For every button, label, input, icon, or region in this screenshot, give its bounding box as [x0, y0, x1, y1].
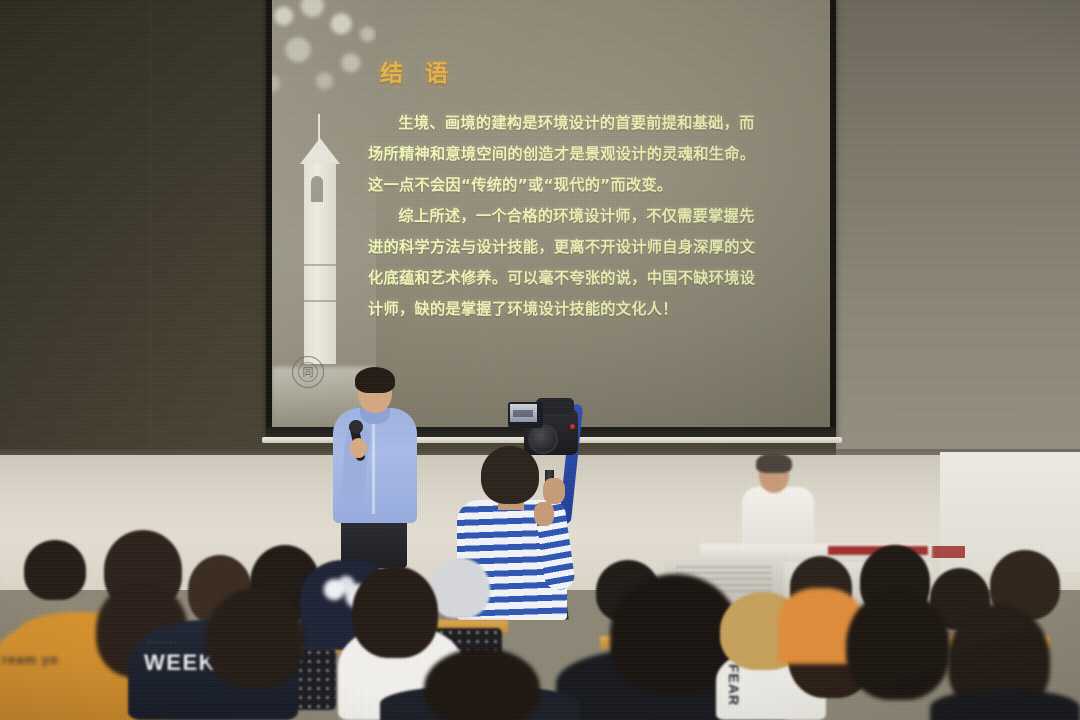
videographer-hand [543, 478, 565, 504]
speaker-hair [355, 367, 395, 393]
videographer-hand [534, 502, 554, 526]
lcd-preview [510, 404, 537, 422]
hoodie-text: ream yo [2, 652, 59, 667]
camera-lcd-screen [508, 402, 543, 428]
tree-foliage [272, 0, 376, 120]
hall-right-wall-panel [836, 0, 1080, 470]
university-seal-icon: 同 [292, 356, 324, 388]
slide-line-4: 综上所述，一个合格的环境设计师，不仅需要掌握先 [368, 201, 808, 232]
slide-line-6: 化底蕴和艺术修养。可以毫不夸张的说，中国不缺环境设 [368, 263, 808, 294]
audience-head [430, 558, 490, 618]
jacket-subtext: ······· [148, 640, 178, 647]
shirt-placket [372, 418, 375, 514]
microphone-head-icon [349, 420, 363, 434]
lecture-hall-photo: 同 结 语 生境、画境的建构是环境设计的首要前提和基础，而 场所精神和意境空间的… [0, 0, 1080, 720]
audience-shoulders [930, 690, 1080, 720]
moderator-hair [756, 453, 792, 473]
projection-screen: 同 结 语 生境、画境的建构是环境设计的首要前提和基础，而 场所精神和意境空间的… [272, 0, 830, 427]
bell-tower [298, 114, 342, 364]
audience-head [206, 588, 304, 688]
shirt-text-fear: FEAR [726, 664, 742, 706]
slide-line-5: 进的科学方法与设计技能，更离不开设计师自身深厚的文 [368, 232, 808, 263]
slide-line-7: 计师，缺的是掌握了环境设计技能的文化人！ [368, 294, 808, 325]
audience-head [424, 648, 540, 720]
tower-ledge [304, 264, 336, 266]
tower-ledge [304, 300, 336, 302]
speaker-hand [350, 438, 367, 458]
slide-title: 结 语 [380, 54, 455, 88]
videographer-head [481, 446, 539, 504]
audience-head [352, 566, 438, 658]
slide-line-3: 这一点不会因“传统的”或“现代的”而改变。 [368, 170, 808, 201]
slide-photo-bell-tower: 同 [272, 0, 376, 427]
tower-arch-window [311, 176, 323, 202]
camera-lens-icon [528, 424, 558, 454]
audience-head [24, 540, 86, 600]
tower-spire [318, 114, 320, 140]
slide-line-1: 生境、画境的建构是环境设计的首要前提和基础，而 [368, 108, 808, 139]
slide-line-2: 场所精神和意境空间的创造才是景观设计的灵魂和生命。 [368, 139, 808, 170]
tower-roof [300, 138, 340, 164]
audience-head [846, 590, 950, 700]
moderator-torso [742, 487, 814, 549]
seal-glyph: 同 [303, 364, 314, 380]
slide-body-text: 生境、画境的建构是环境设计的首要前提和基础，而 场所精神和意境空间的创造才是景观… [368, 108, 808, 325]
recording-indicator [570, 424, 575, 429]
wall-seam [150, 0, 151, 450]
